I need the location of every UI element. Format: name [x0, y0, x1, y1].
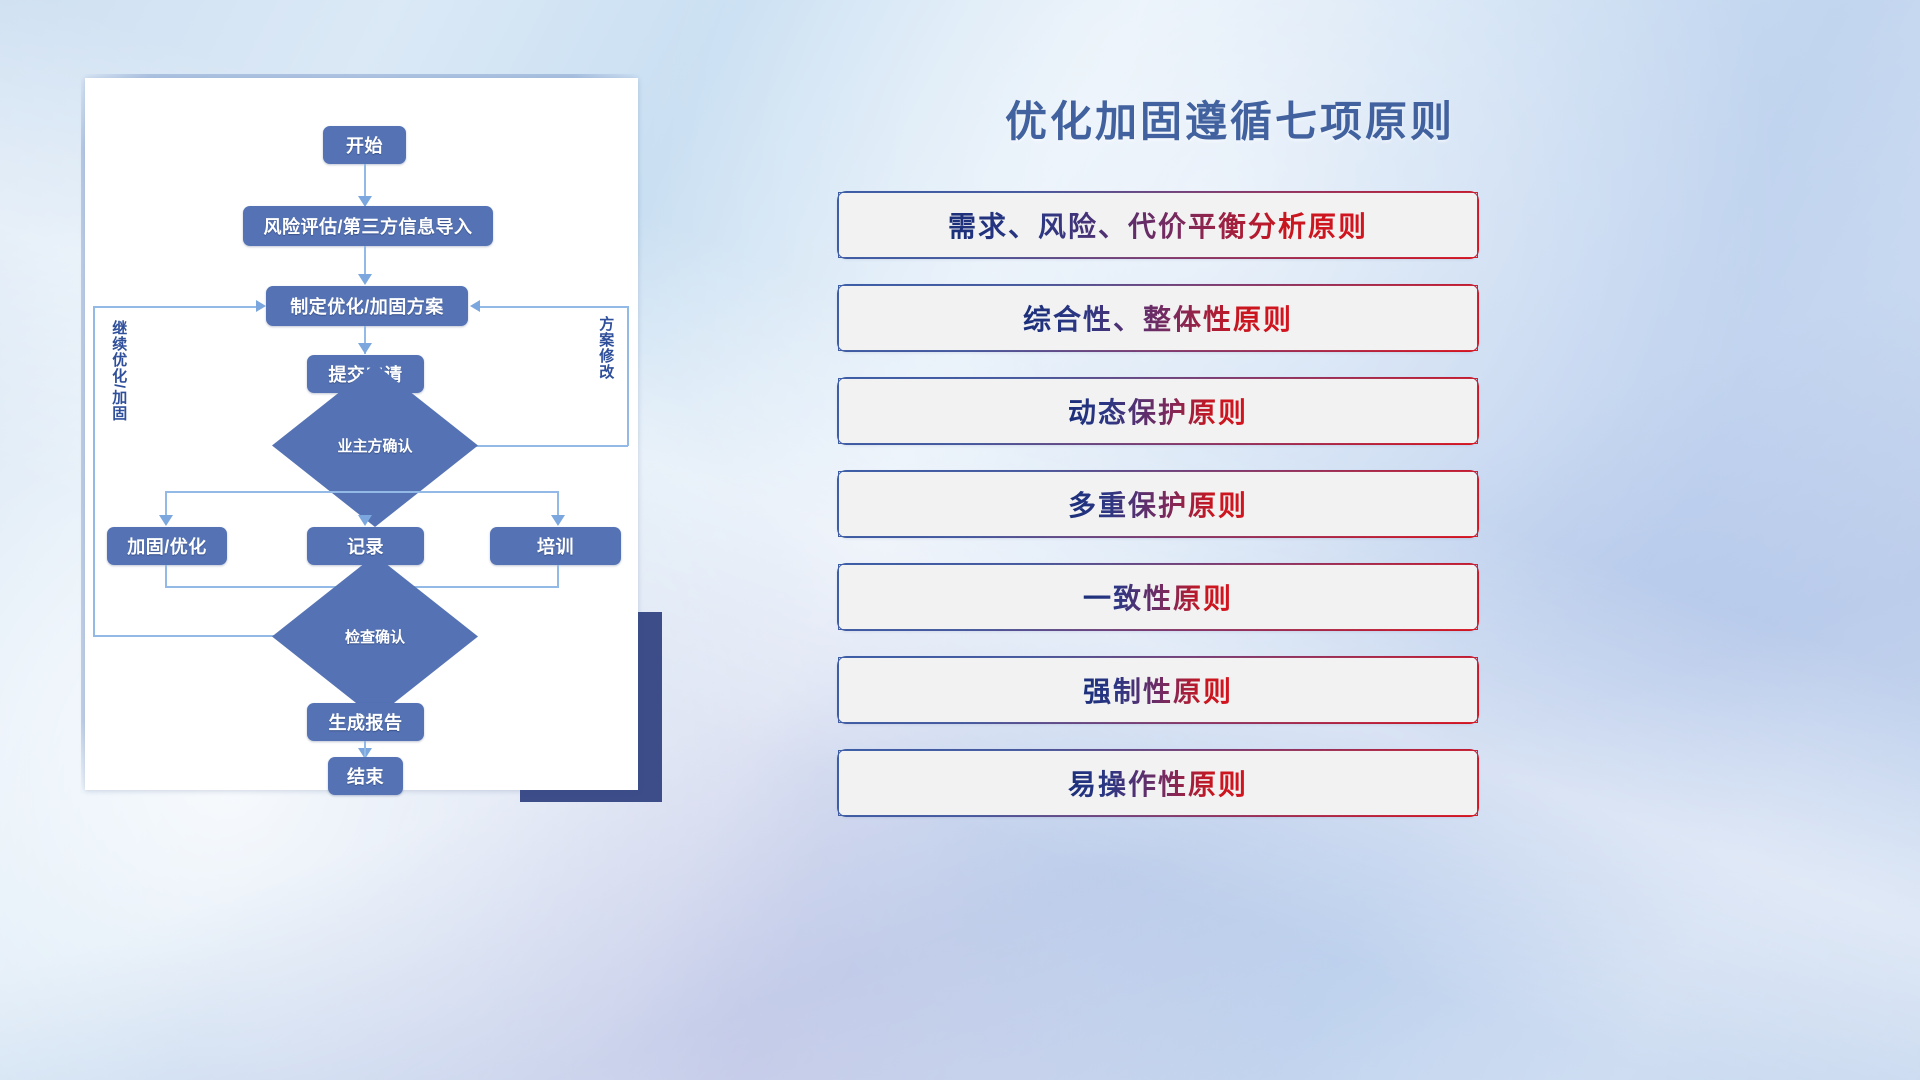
flowchart-card: 开始 风险评估/第三方信息导入 制定优化/加固方案 继续优化/加固 方案修改	[85, 78, 638, 790]
principle-label: 多重保护原则	[1068, 484, 1248, 524]
arrow-left-loop-into-plan	[256, 300, 266, 312]
flow-node-harden-optimize[interactable]: 加固/优化	[107, 527, 227, 565]
connector-right-loop-top	[478, 306, 628, 308]
principle-card[interactable]: 强制性原则	[838, 657, 1478, 723]
flow-node-owner-confirm[interactable]: 业主方确认	[272, 364, 478, 527]
principle-card[interactable]: 一致性原则	[838, 564, 1478, 630]
connector-train-down	[557, 565, 559, 588]
arrow-plan-submit	[358, 343, 372, 354]
connector-harden-down	[165, 565, 167, 588]
slide-canvas: 开始 风险评估/第三方信息导入 制定优化/加固方案 继续优化/加固 方案修改	[0, 0, 1920, 1080]
connector-start-risk	[364, 164, 366, 200]
connector-left-loop-vertical	[93, 306, 95, 636]
principle-label: 一致性原则	[1083, 577, 1233, 617]
principle-label: 易操作性原则	[1068, 763, 1248, 803]
flow-node-make-plan[interactable]: 制定优化/加固方案	[266, 286, 468, 326]
principles-card-list: 需求、风险、代价平衡分析原则 综合性、整体性原则 动态保护原则 多重保护原则 一…	[838, 192, 1478, 843]
arrow-branch-harden	[159, 515, 173, 526]
principle-card[interactable]: 多重保护原则	[838, 471, 1478, 537]
flow-node-risk-assessment[interactable]: 风险评估/第三方信息导入	[243, 206, 493, 246]
principle-label: 强制性原则	[1083, 670, 1233, 710]
flow-node-record[interactable]: 记录	[307, 527, 424, 565]
flow-node-end[interactable]: 结束	[328, 757, 403, 795]
principle-label: 需求、风险、代价平衡分析原则	[948, 205, 1368, 245]
connector-right-loop-vertical	[627, 306, 629, 446]
arrow-right-loop-into-plan	[470, 300, 480, 312]
principle-card[interactable]: 综合性、整体性原则	[838, 285, 1478, 351]
arrow-risk-plan	[358, 274, 372, 285]
principle-card[interactable]: 易操作性原则	[838, 750, 1478, 816]
connector-branch-bus	[165, 491, 558, 493]
edge-label-continue-optimize: 继续优化/加固	[110, 320, 127, 421]
arrow-branch-train	[551, 515, 565, 526]
edge-label-plan-revise: 方案修改	[597, 316, 614, 380]
principle-card[interactable]: 动态保护原则	[838, 378, 1478, 444]
connector-left-loop-top	[93, 306, 258, 308]
principle-label: 动态保护原则	[1068, 391, 1248, 431]
connector-right-loop-bottom	[457, 445, 628, 447]
flow-node-start[interactable]: 开始	[323, 126, 406, 164]
arrow-branch-record	[358, 515, 372, 526]
principle-label: 综合性、整体性原则	[1023, 298, 1293, 338]
principles-title: 优化加固遵循七项原则	[930, 88, 1530, 149]
flowchart-diagram: 开始 风险评估/第三方信息导入 制定优化/加固方案 继续优化/加固 方案修改	[85, 78, 638, 790]
principle-card[interactable]: 需求、风险、代价平衡分析原则	[838, 192, 1478, 258]
flow-node-check-confirm[interactable]: 检查确认	[272, 555, 478, 718]
flow-node-training[interactable]: 培训	[490, 527, 621, 565]
flow-node-generate-report[interactable]: 生成报告	[307, 703, 424, 741]
